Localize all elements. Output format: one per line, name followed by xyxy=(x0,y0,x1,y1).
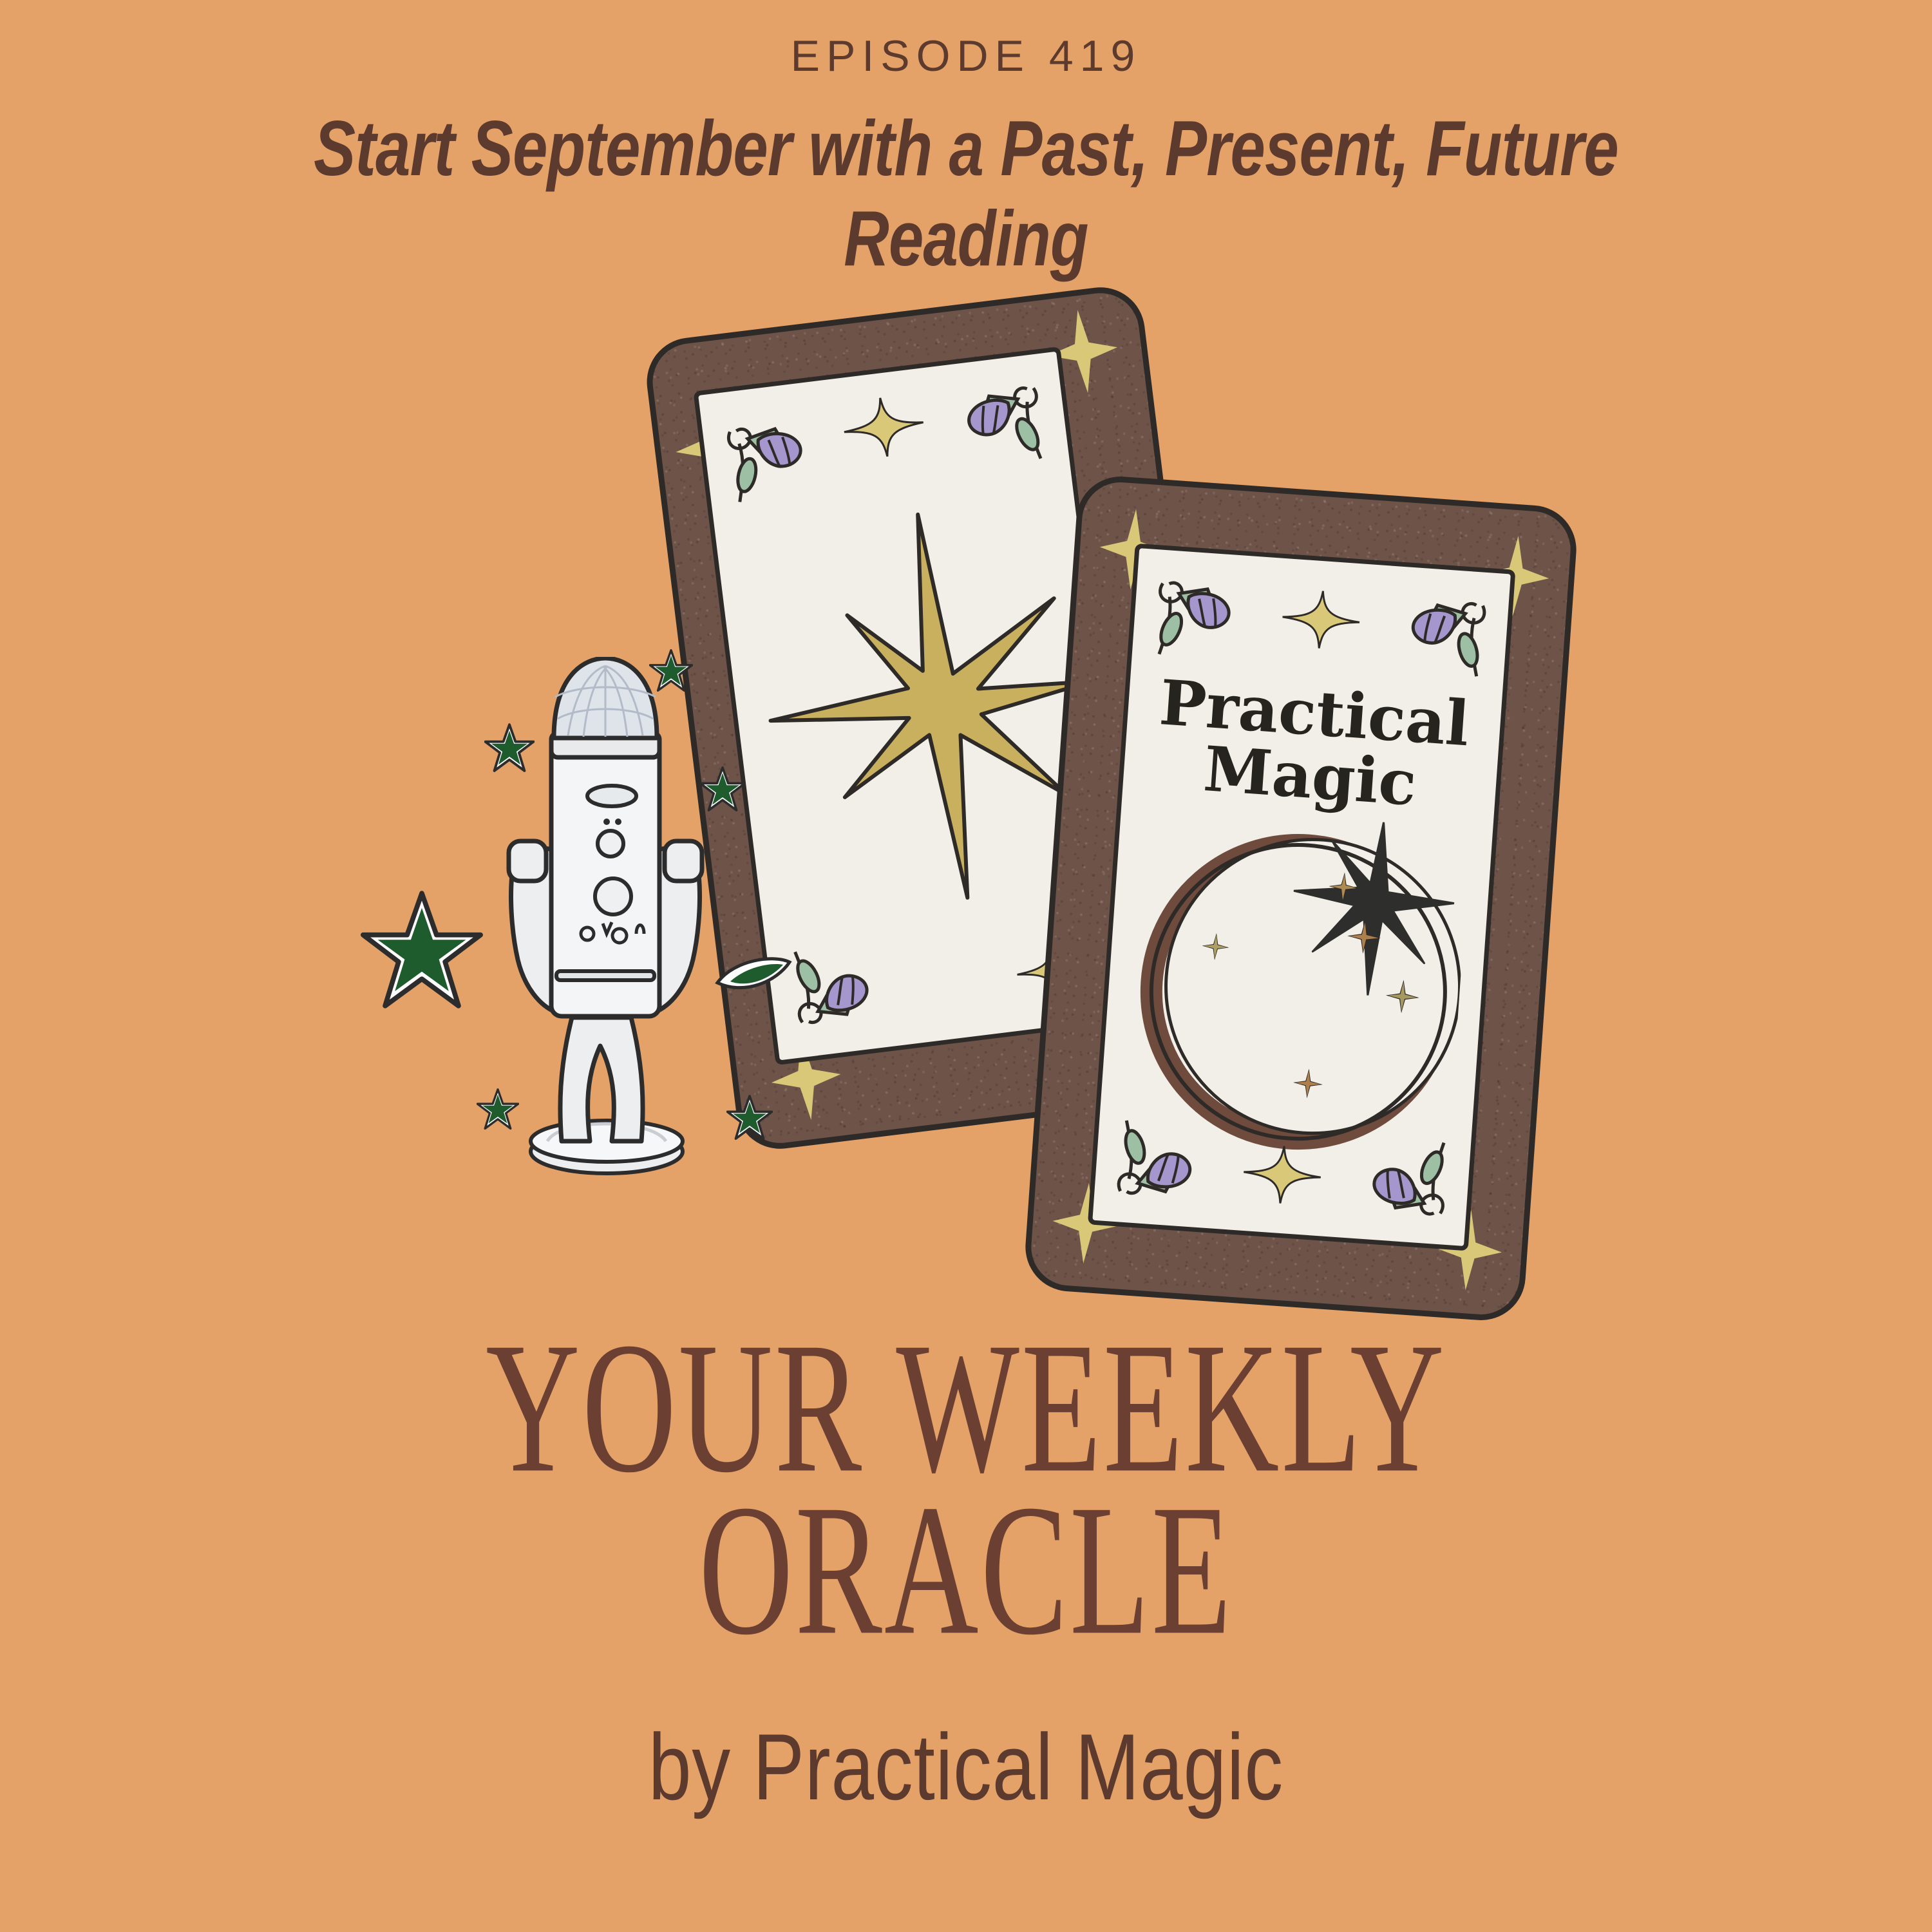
small-sparkle-icon xyxy=(1385,979,1421,1015)
card-title: Practical Magic xyxy=(1122,669,1502,821)
small-sparkle-icon xyxy=(1328,871,1359,903)
episode-subtitle: Start September with a Past, Present, Fu… xyxy=(193,103,1739,283)
page-title: YOUR WEEKLY ORACLE xyxy=(0,1327,1932,1651)
bellflower-sprig-icon xyxy=(947,368,1055,482)
leaf-swish-icon xyxy=(715,953,792,1001)
gold-sparkle-icon xyxy=(1280,588,1361,651)
show-byline: by Practical Magic xyxy=(174,1713,1758,1821)
gold-sparkle-icon xyxy=(840,393,927,461)
green-star-sparkle-icon xyxy=(477,1088,519,1130)
green-star-sparkle-icon xyxy=(699,766,746,811)
small-sparkle-icon xyxy=(1346,919,1382,955)
green-star-sparkle-icon xyxy=(361,890,483,1009)
page-title-line-2: ORACLE xyxy=(213,1479,1719,1661)
small-sparkle-icon xyxy=(1292,1068,1323,1099)
bellflower-sprig-icon xyxy=(1108,1107,1211,1217)
podcast-cover-artwork: EPISODE 419 Start September with a Past,… xyxy=(0,0,1932,1932)
green-star-sparkle-icon xyxy=(649,649,693,692)
burst-star-icon xyxy=(1287,816,1459,1001)
bellflower-sprig-icon xyxy=(716,402,824,516)
gold-sparkle-icon xyxy=(1242,1143,1323,1206)
practical-magic-tarot-card: Practical Magic xyxy=(1028,480,1573,1317)
episode-label: EPISODE 419 xyxy=(0,31,1932,81)
bellflower-sprig-icon xyxy=(1392,580,1496,690)
bellflower-sprig-icon xyxy=(1146,563,1249,673)
bellflower-sprig-icon xyxy=(781,929,889,1043)
card-face: Practical Magic xyxy=(1092,548,1511,1246)
bellflower-sprig-icon xyxy=(1354,1124,1458,1233)
small-sparkle-icon xyxy=(1201,933,1230,961)
card-title-line-2: Magic xyxy=(1201,732,1419,820)
green-star-sparkle-icon xyxy=(726,1095,773,1140)
green-star-sparkle-icon xyxy=(484,723,535,772)
